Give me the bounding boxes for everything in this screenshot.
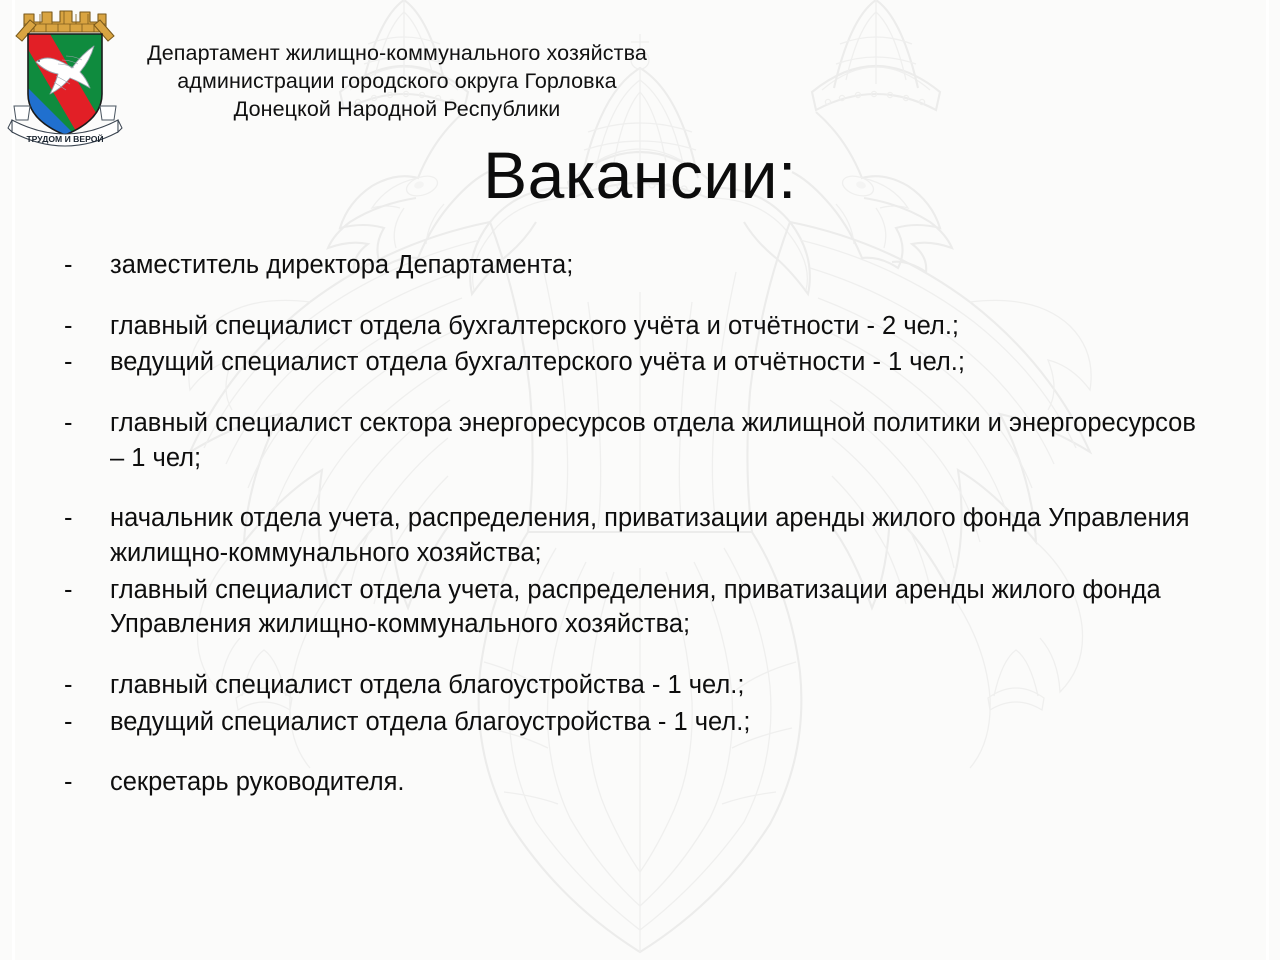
list-item: - ведущий специалист отдела бухгалтерско… <box>0 345 1280 380</box>
vacancy-list: - заместитель директора Департамента; - … <box>0 248 1280 800</box>
list-item: - ведущий специалист отдела благоустройс… <box>0 705 1280 740</box>
list-item: - заместитель директора Департамента; <box>0 248 1280 283</box>
page-title: Вакансии: <box>0 142 1280 208</box>
org-title-line-2: администрации городского округа Горловка <box>112 68 682 96</box>
list-item: - секретарь руководителя. <box>0 765 1280 800</box>
vacancy-group: - секретарь руководителя. <box>0 765 1280 800</box>
list-item: - главный специалист отдела учета, распр… <box>0 573 1280 642</box>
list-dash: - <box>64 705 82 740</box>
list-item-label: главный специалист сектора энергоресурсо… <box>110 406 1200 475</box>
list-dash: - <box>64 309 82 344</box>
vacancy-group: - начальник отдела учета, распределения,… <box>0 501 1280 642</box>
list-item-label: главный специалист отдела учета, распред… <box>110 573 1200 642</box>
slide: ТРУДОМ И ВЕРОЙ Департамент жилищно-комму… <box>0 0 1280 960</box>
list-dash: - <box>64 501 82 536</box>
org-title-line-3: Донецкой Народной Республики <box>112 96 682 124</box>
list-item-label: начальник отдела учета, распределения, п… <box>110 501 1200 570</box>
list-item-label: заместитель директора Департамента; <box>110 248 1200 283</box>
list-item-label: главный специалист отдела благоустройств… <box>110 668 1200 703</box>
list-item: - начальник отдела учета, распределения,… <box>0 501 1280 570</box>
list-dash: - <box>64 345 82 380</box>
list-dash: - <box>64 573 82 608</box>
list-item: - главный специалист отдела бухгалтерско… <box>0 309 1280 344</box>
list-item-label: секретарь руководителя. <box>110 765 1200 800</box>
list-item: - главный специалист отдела благоустройс… <box>0 668 1280 703</box>
list-item-label: ведущий специалист отдела бухгалтерского… <box>110 345 1200 380</box>
list-dash: - <box>64 406 82 441</box>
list-dash: - <box>64 668 82 703</box>
list-dash: - <box>64 765 82 800</box>
vacancy-group: - заместитель директора Департамента; <box>0 248 1280 283</box>
organisation-title: Департамент жилищно-коммунального хозяйс… <box>112 40 682 124</box>
header: ТРУДОМ И ВЕРОЙ Департамент жилищно-комму… <box>0 0 1280 150</box>
vacancy-group: - главный специалист отдела бухгалтерско… <box>0 309 1280 380</box>
list-item: - главный специалист сектора энергоресур… <box>0 406 1280 475</box>
list-dash: - <box>64 248 82 283</box>
list-item-label: главный специалист отдела бухгалтерского… <box>110 309 1200 344</box>
vacancy-group: - главный специалист отдела благоустройс… <box>0 668 1280 739</box>
vacancy-group: - главный специалист сектора энергоресур… <box>0 406 1280 475</box>
list-item-label: ведущий специалист отдела благоустройств… <box>110 705 1200 740</box>
org-title-line-1: Департамент жилищно-коммунального хозяйс… <box>112 40 682 68</box>
gorlovka-coat-of-arms-icon: ТРУДОМ И ВЕРОЙ <box>6 2 124 154</box>
